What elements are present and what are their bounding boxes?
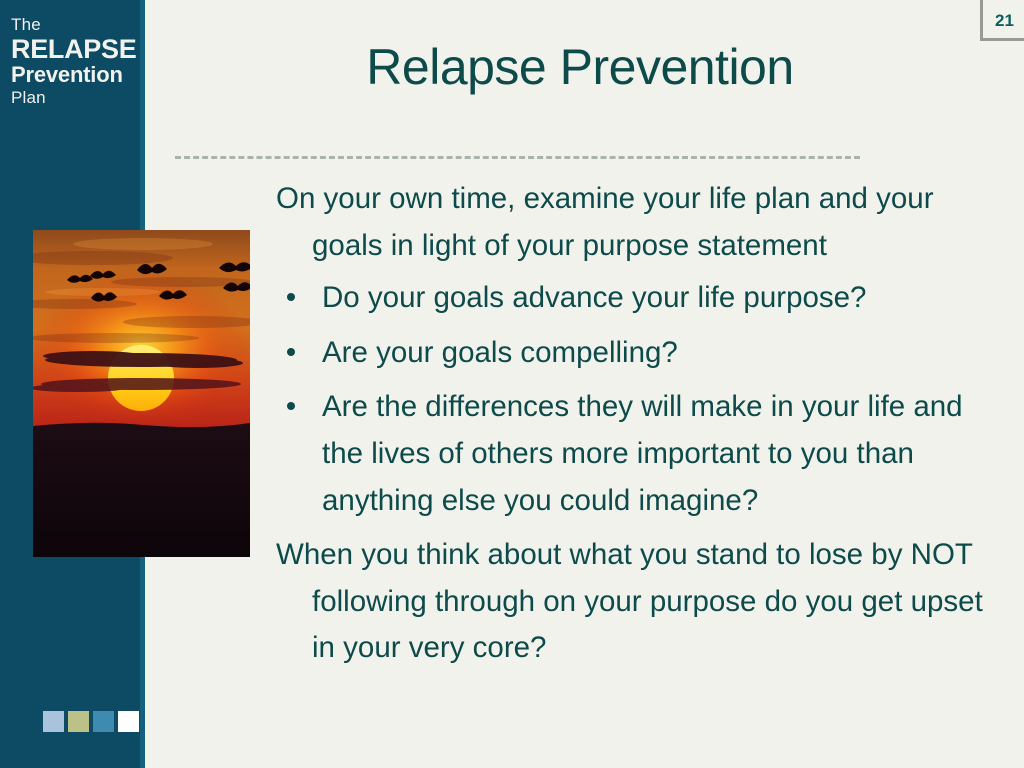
- sunset-photo-graphic: [33, 230, 250, 557]
- list-item: Are your goals compelling?: [276, 330, 988, 377]
- logo-line-relapse: RELAPSE: [11, 35, 141, 63]
- sunset-photo: [33, 230, 250, 557]
- swatch-light-blue: [43, 711, 64, 732]
- list-item: Are the differences they will make in yo…: [276, 384, 988, 524]
- logo-line-prevention: Prevention: [11, 63, 141, 87]
- bullet-dot-icon: [287, 348, 295, 356]
- brand-logo: The RELAPSE Prevention Plan: [11, 16, 141, 106]
- bullet-dot-icon: [287, 402, 295, 410]
- list-item-label: Are the differences they will make in yo…: [322, 390, 963, 516]
- swatch-blue: [93, 711, 114, 732]
- title-divider: [175, 156, 860, 159]
- list-item-label: Are your goals compelling?: [322, 336, 678, 369]
- list-item: Do your goals advance your life purpose?: [276, 275, 988, 322]
- page-number-badge: 21: [980, 0, 1024, 41]
- closing-paragraph: When you think about what you stand to l…: [276, 532, 988, 672]
- slide-title: Relapse Prevention: [175, 38, 985, 96]
- color-swatch-strip: [43, 711, 139, 732]
- list-item-label: Do your goals advance your life purpose?: [322, 281, 866, 314]
- swatch-khaki: [68, 711, 89, 732]
- logo-line-the: The: [11, 16, 141, 33]
- slide-body: On your own time, examine your life plan…: [276, 176, 988, 672]
- bullet-dot-icon: [287, 293, 295, 301]
- swatch-white: [118, 711, 139, 732]
- page-number: 21: [993, 5, 1014, 31]
- bullet-list: Do your goals advance your life purpose?…: [276, 275, 988, 524]
- slide: The RELAPSE Prevention Plan: [0, 0, 1024, 768]
- intro-paragraph: On your own time, examine your life plan…: [276, 176, 988, 269]
- logo-line-plan: Plan: [11, 89, 141, 106]
